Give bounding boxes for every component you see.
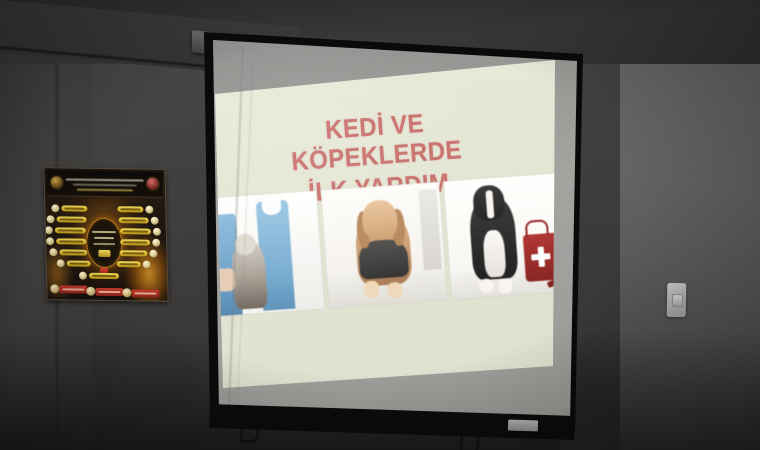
poster-pill <box>61 205 87 212</box>
poster-pill <box>56 238 86 245</box>
poster-bottom-dot <box>122 288 131 297</box>
photo-background <box>418 189 443 275</box>
poster-pill <box>117 261 141 268</box>
dog-paw <box>363 281 379 299</box>
poster-pill-dot <box>79 272 87 280</box>
wall-poster <box>43 167 168 302</box>
poster-pill <box>120 239 150 246</box>
photo-caption: border collie sitting beside a red first… <box>443 182 444 183</box>
poster-pill <box>119 250 147 257</box>
light-switch[interactable] <box>667 283 687 317</box>
oval-badge <box>98 250 110 257</box>
poster-pill-dot <box>153 228 161 236</box>
emblem-icon <box>51 176 63 188</box>
projected-slide: KEDİ VE KÖPEKLERDE İLK YARDIM <box>183 16 583 448</box>
poster-pill <box>67 260 91 267</box>
poster-pill <box>59 249 87 256</box>
poster-pill-dot <box>51 204 59 212</box>
poster-body <box>45 195 168 301</box>
oval-text-line <box>94 237 114 239</box>
oval-text-line <box>92 231 116 233</box>
poster-pill-dot <box>152 239 160 247</box>
poster-header-text-line <box>77 188 133 191</box>
poster-header-text-line <box>66 178 144 181</box>
poster-pill-dot <box>45 226 53 234</box>
poster-bottom-dot <box>50 284 59 293</box>
poster-pill-dot <box>46 237 54 245</box>
poster-pill-dot <box>145 206 153 214</box>
poster-header <box>46 170 163 198</box>
poster-pill <box>57 216 87 223</box>
poster-pill-dot <box>47 215 55 223</box>
right-wall-shadow <box>560 330 760 450</box>
oval-text-line <box>93 243 115 245</box>
slide-photo-strip: veterinarians in blue scrubs holding a c… <box>199 173 569 317</box>
poster-pill-dot <box>49 248 57 256</box>
photo-caption: golden retriever wearing a vest on an ex… <box>321 190 322 191</box>
poster-pill-dot <box>149 250 157 258</box>
dog-paw <box>497 278 512 293</box>
poster-pill-dot <box>151 217 159 225</box>
slide-photo-vet-with-cat: veterinarians in blue scrubs holding a c… <box>199 191 324 317</box>
poster-bottom-pill <box>131 289 159 297</box>
dog-head <box>361 199 399 242</box>
slide-content: KEDİ VE KÖPEKLERDE İLK YARDIM <box>183 16 583 448</box>
light-switch-rocker[interactable] <box>672 294 683 307</box>
poster-header-text-line <box>73 184 137 186</box>
screen-surface: KEDİ VE KÖPEKLERDE İLK YARDIM <box>183 16 583 448</box>
poster-pill <box>119 217 149 224</box>
poster-pill <box>117 206 143 213</box>
screen-brand-plate <box>508 420 538 432</box>
poster-bottom-pill <box>59 285 87 293</box>
poster-pill <box>89 273 119 280</box>
poster-board <box>43 167 168 302</box>
poster-pill-dot <box>143 260 151 268</box>
projection-screen-assembly: KEDİ VE KÖPEKLERDE İLK YARDIM <box>183 16 583 448</box>
slide-photo-golden-retriever: golden retriever wearing a vest on an ex… <box>321 182 446 308</box>
poster-pill <box>120 228 151 235</box>
poster-bottom-pill <box>95 288 123 296</box>
poster-pill <box>55 227 86 234</box>
photo-scene: KEDİ VE KÖPEKLERDE İLK YARDIM <box>0 0 760 450</box>
photo-caption: veterinarians in blue scrubs holding a c… <box>199 199 200 200</box>
first-aid-kit-handle <box>525 219 549 237</box>
slide-photo-collie-first-aid: border collie sitting beside a red first… <box>443 173 568 299</box>
poster-bottom-dot <box>86 287 95 296</box>
poster-pill-dot <box>57 259 65 267</box>
emblem-icon <box>147 178 159 190</box>
